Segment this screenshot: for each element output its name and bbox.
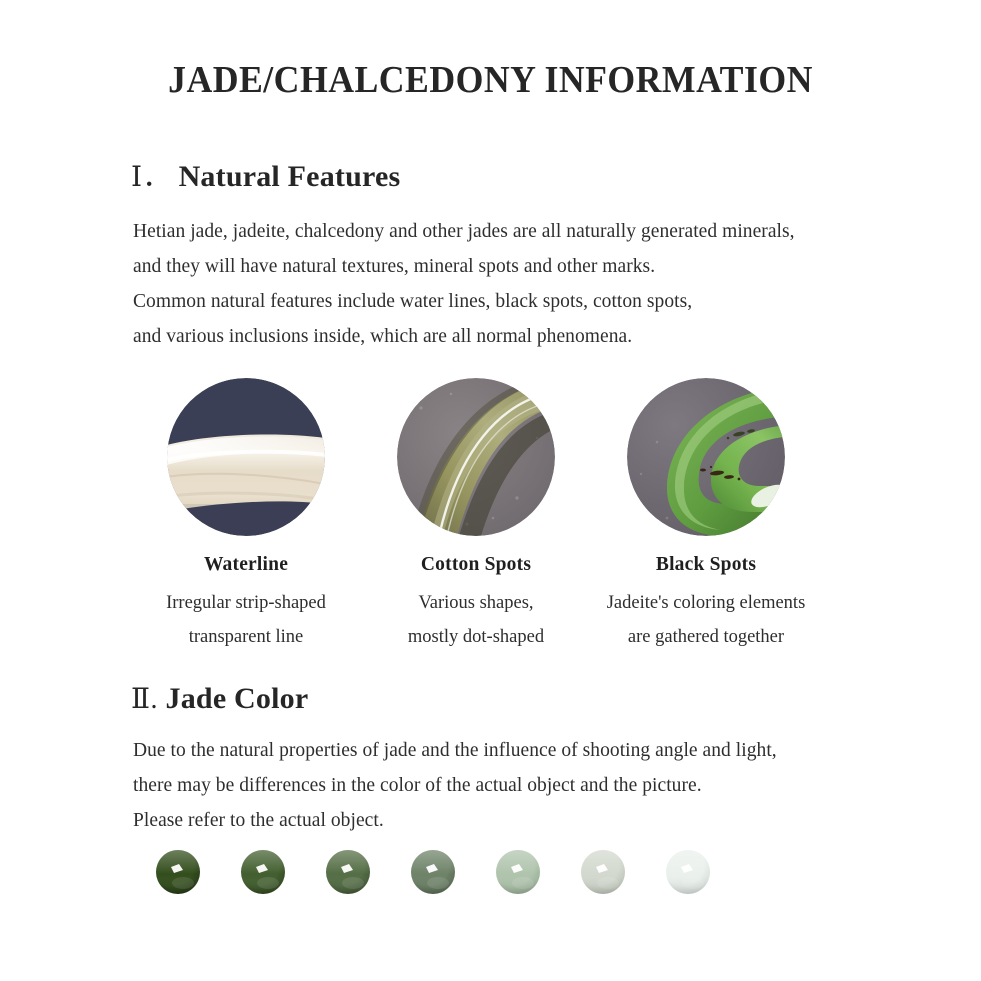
feature-item-black-spots: Black Spots Jadeite's coloring elements … — [591, 378, 821, 654]
paragraph-line: Due to the natural properties of jade an… — [133, 733, 913, 768]
feature-gallery: Waterline Irregular strip-shaped transpa… — [131, 378, 851, 654]
paragraph-natural-features: Hetian jade, jadeite, chalcedony and oth… — [133, 214, 913, 354]
black-spots-illustration — [627, 378, 785, 536]
swatch-6 — [580, 849, 626, 895]
paragraph-line: and they will have natural textures, min… — [133, 249, 913, 284]
section-numeral-2: Ⅱ. — [131, 684, 158, 715]
feature-title: Cotton Spots — [421, 554, 531, 576]
page-title: JADE/CHALCEDONY INFORMATION — [29, 58, 951, 102]
cotton-spots-illustration — [397, 378, 555, 536]
waterline-photo — [167, 378, 325, 536]
black-spots-photo — [627, 378, 785, 536]
feature-description: Jadeite's coloring elements are gathered… — [607, 586, 806, 654]
feature-item-waterline: Waterline Irregular strip-shaped transpa… — [131, 378, 361, 654]
cotton-spots-photo — [397, 378, 555, 536]
swatch-2-gem — [240, 849, 286, 895]
feature-description: Various shapes, mostly dot-shaped — [408, 586, 544, 654]
section-heading-natural-features: Ⅰ． Natural Features — [131, 162, 400, 192]
swatch-5-gem — [495, 849, 541, 895]
feature-description-line: transparent line — [166, 620, 326, 654]
paragraph-line: Hetian jade, jadeite, chalcedony and oth… — [133, 214, 913, 249]
jade-color-swatch-row — [155, 849, 755, 905]
swatch-7 — [665, 849, 711, 895]
swatch-4 — [410, 849, 456, 895]
swatch-3 — [325, 849, 371, 895]
feature-description-line: Jadeite's coloring elements — [607, 586, 806, 620]
swatch-4-gem — [410, 849, 456, 895]
waterline-illustration — [167, 378, 325, 536]
feature-title: Black Spots — [656, 554, 756, 576]
section-heading-jade-color: Ⅱ. Jade Color — [131, 684, 308, 714]
swatch-2 — [240, 849, 286, 895]
paragraph-line: and various inclusions inside, which are… — [133, 319, 913, 354]
feature-item-cotton-spots: Cotton Spots Various shapes, mostly dot-… — [361, 378, 591, 654]
swatch-1 — [155, 849, 201, 895]
swatch-5 — [495, 849, 541, 895]
paragraph-line: Common natural features include water li… — [133, 284, 913, 319]
section-title-1: Natural Features — [179, 160, 401, 193]
feature-description-line: mostly dot-shaped — [408, 620, 544, 654]
feature-description-line: Various shapes, — [408, 586, 544, 620]
jade-info-page: JADE/CHALCEDONY INFORMATION Ⅰ． Natural F… — [0, 0, 981, 981]
paragraph-jade-color: Due to the natural properties of jade an… — [133, 733, 913, 838]
section-title-2: Jade Color — [166, 682, 309, 715]
paragraph-line: there may be differences in the color of… — [133, 768, 913, 803]
swatch-3-gem — [325, 849, 371, 895]
feature-title: Waterline — [204, 554, 288, 576]
feature-description-line: are gathered together — [607, 620, 806, 654]
swatch-1-gem — [155, 849, 201, 895]
paragraph-line: Please refer to the actual object. — [133, 803, 913, 838]
feature-description: Irregular strip-shaped transparent line — [166, 586, 326, 654]
section-numeral-1: Ⅰ． — [131, 162, 171, 193]
swatch-7-gem — [665, 849, 711, 895]
swatch-6-gem — [580, 849, 626, 895]
feature-description-line: Irregular strip-shaped — [166, 586, 326, 620]
